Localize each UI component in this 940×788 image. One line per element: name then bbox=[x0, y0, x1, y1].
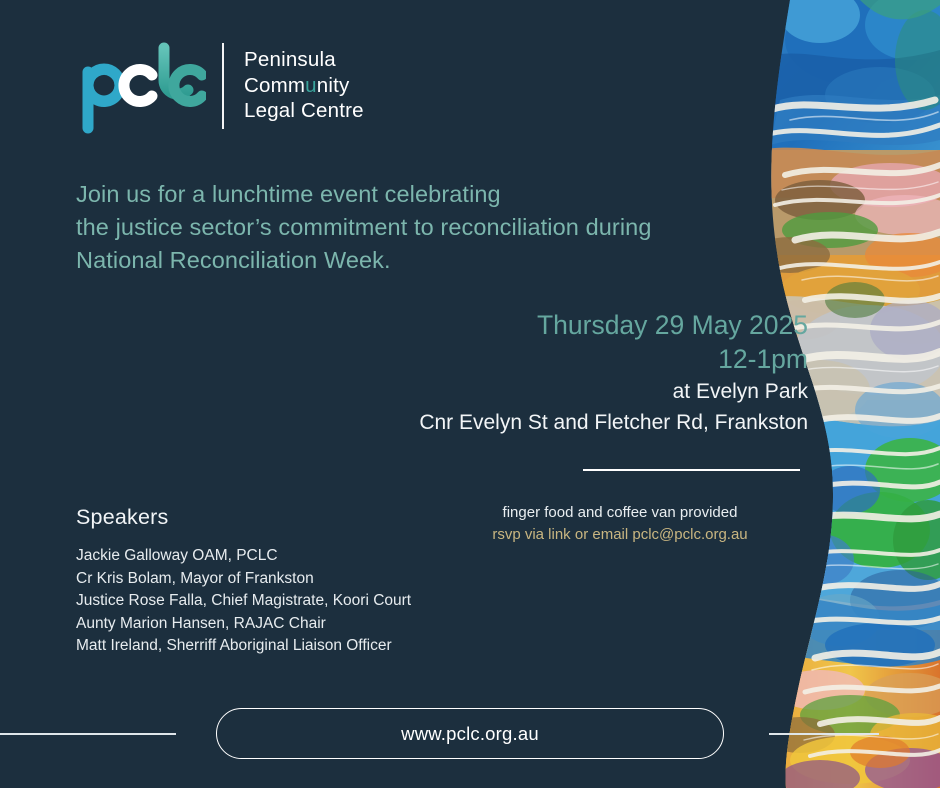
logo-word-line1: Peninsula bbox=[244, 47, 364, 73]
speakers-list: Jackie Galloway OAM, PCLC Cr Kris Bolam,… bbox=[76, 545, 411, 658]
logo-word-line2: Community bbox=[244, 73, 364, 99]
catering-note: finger food and coffee van provided bbox=[440, 502, 800, 524]
event-details: Thursday 29 May 2025 12-1pm at Evelyn Pa… bbox=[419, 308, 808, 438]
event-time: 12-1pm bbox=[419, 342, 808, 376]
logo-divider bbox=[222, 43, 224, 129]
event-venue: at Evelyn Park bbox=[419, 376, 808, 407]
list-item: Matt Ireland, Sherriff Aboriginal Liaiso… bbox=[76, 635, 411, 658]
logo-word-line2-post: nity bbox=[317, 74, 350, 97]
rsvp-divider bbox=[583, 469, 800, 471]
list-item: Cr Kris Bolam, Mayor of Frankston bbox=[76, 568, 411, 591]
logo-word-line2-accent: u bbox=[305, 74, 317, 97]
logo-word-line3: Legal Centre bbox=[244, 98, 364, 124]
headline-line-2: the justice sector’s commitment to recon… bbox=[76, 211, 652, 244]
rsvp-link-text[interactable]: rsvp via link or email pclc@pclc.org.au bbox=[440, 524, 800, 546]
logo-wordmark: Peninsula Community Legal Centre bbox=[244, 38, 364, 124]
footer-rule-right bbox=[769, 733, 879, 735]
headline: Join us for a lunchtime event celebratin… bbox=[76, 178, 652, 277]
footer-rule-left bbox=[0, 733, 176, 735]
speakers-block: Speakers Jackie Galloway OAM, PCLC Cr Kr… bbox=[76, 503, 411, 658]
pclc-logo: Peninsula Community Legal Centre bbox=[78, 38, 364, 136]
rsvp-block: finger food and coffee van provided rsvp… bbox=[440, 502, 800, 546]
event-date: Thursday 29 May 2025 bbox=[419, 308, 808, 342]
list-item: Aunty Marion Hansen, RAJAC Chair bbox=[76, 613, 411, 636]
list-item: Justice Rose Falla, Chief Magistrate, Ko… bbox=[76, 590, 411, 613]
pclc-mark-svg bbox=[78, 38, 206, 136]
event-poster: Peninsula Community Legal Centre Join us… bbox=[0, 0, 940, 788]
headline-line-1: Join us for a lunchtime event celebratin… bbox=[76, 178, 652, 211]
pclc-logomark-icon bbox=[78, 38, 206, 136]
speakers-title: Speakers bbox=[76, 503, 411, 531]
logo-word-line2-pre: Comm bbox=[244, 74, 305, 97]
website-url-label: www.pclc.org.au bbox=[401, 723, 539, 745]
website-url-button[interactable]: www.pclc.org.au bbox=[216, 708, 724, 759]
list-item: Jackie Galloway OAM, PCLC bbox=[76, 545, 411, 568]
event-address: Cnr Evelyn St and Fletcher Rd, Frankston bbox=[419, 407, 808, 438]
headline-line-3: National Reconciliation Week. bbox=[76, 244, 652, 277]
